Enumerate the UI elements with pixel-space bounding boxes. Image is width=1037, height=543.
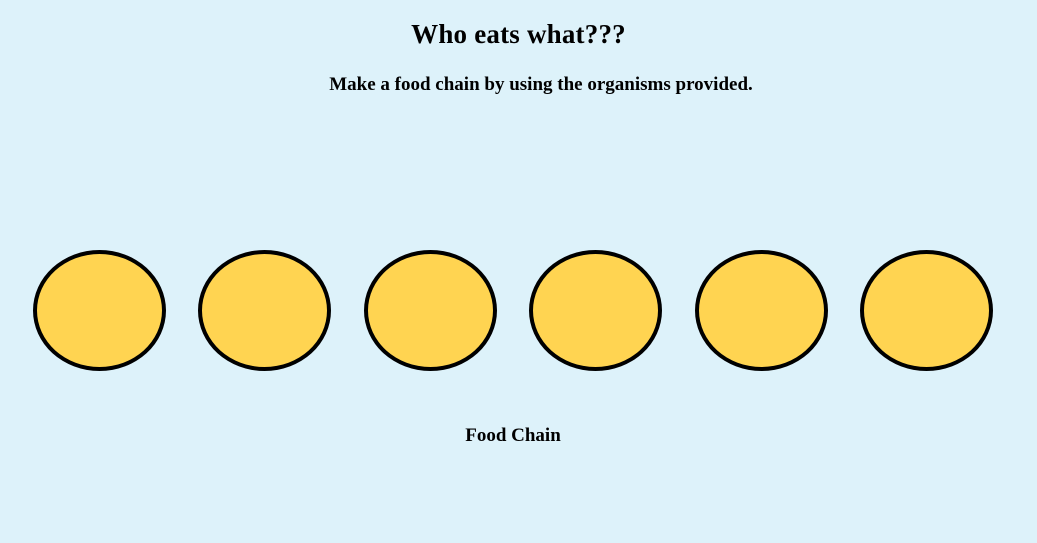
organism-slot-3[interactable]	[364, 250, 497, 371]
organism-slot-5[interactable]	[695, 250, 828, 371]
worksheet-canvas: Who eats what??? Make a food chain by us…	[0, 0, 1037, 543]
page-title: Who eats what???	[0, 20, 1037, 50]
food-chain-slot-row	[33, 250, 993, 371]
organism-slot-4[interactable]	[529, 250, 662, 371]
food-chain-label: Food Chain	[0, 425, 1026, 448]
instruction-text: Make a food chain by using the organisms…	[0, 74, 1037, 97]
organism-slot-2[interactable]	[198, 250, 331, 371]
organism-slot-1[interactable]	[33, 250, 166, 371]
organism-slot-6[interactable]	[860, 250, 993, 371]
